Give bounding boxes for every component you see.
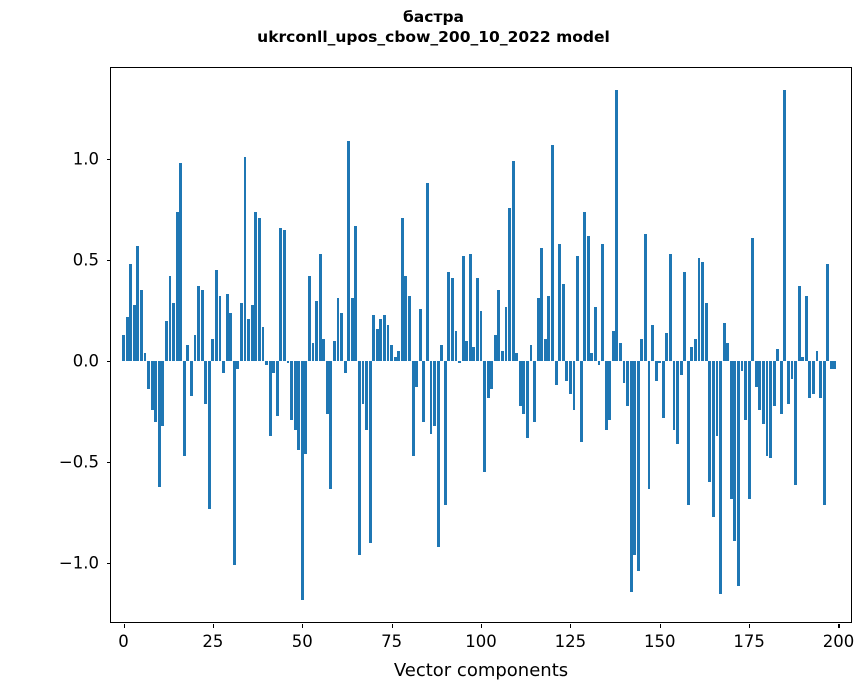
bar [701,262,704,361]
bar [304,361,307,454]
bar [744,361,747,420]
bar [308,276,311,361]
bar [129,264,132,361]
bar [519,361,522,405]
bar [741,361,744,371]
bar [365,361,368,430]
plot-axes: −1.0−0.50.00.51.00255075100125150175200 [110,67,852,623]
bar [662,361,665,418]
y-tick-label: −1.0 [39,554,99,573]
bar [601,244,604,361]
bar [415,361,418,387]
bar [766,361,769,456]
bar [372,315,375,362]
y-tick-mark [107,462,111,463]
bar [776,349,779,361]
bar [490,361,493,389]
bar [447,272,450,361]
bar [144,353,147,361]
bar [823,361,826,505]
y-tick-mark [107,361,111,362]
bar [623,361,626,383]
bar [390,345,393,361]
y-tick-mark [107,563,111,564]
bar [544,339,547,361]
bar [719,361,722,594]
bar [794,361,797,484]
bar [673,361,676,430]
chart-title-line-2: ukrconll_upos_cbow_200_10_2022 model [0,28,867,48]
bar [387,325,390,361]
bar [383,315,386,362]
chart-title-line-1: бастра [0,8,867,28]
bar [808,361,811,397]
bar [165,321,168,361]
bar [726,343,729,361]
bar [262,327,265,361]
bar [494,335,497,361]
bar [440,345,443,361]
bar [501,351,504,361]
bar [637,361,640,571]
bar [451,278,454,361]
bar [773,361,776,405]
bar [676,361,679,444]
x-tick-label: 175 [714,632,784,651]
bar [254,212,257,362]
bar [530,345,533,361]
bar [780,361,783,414]
bar [590,353,593,361]
bar [419,309,422,362]
bar [362,361,365,403]
bar [122,335,125,361]
bar [379,319,382,361]
bar [233,361,236,565]
x-tick-label: 75 [357,632,427,651]
bar [236,361,239,369]
bar [698,258,701,361]
y-tick-label: 0.0 [39,352,99,371]
bar [733,361,736,541]
bar [183,361,186,456]
chart-title: бастра ukrconll_upos_cbow_200_10_2022 mo… [0,8,867,48]
bar [705,303,708,362]
bar [758,361,761,410]
bar [297,361,300,450]
bar [426,183,429,361]
bar [605,361,608,430]
x-tick-mark [660,624,661,628]
bar [315,301,318,362]
bar [194,335,197,361]
bar [397,351,400,361]
bar [683,272,686,361]
bar [515,353,518,361]
x-tick-mark [838,624,839,628]
bar [401,218,404,362]
bar [283,230,286,361]
bar [658,361,661,363]
x-tick-label: 25 [178,632,248,651]
bar [551,145,554,361]
bar [812,361,815,393]
bar [258,218,261,362]
bar [633,361,636,555]
bar [465,341,468,361]
bar [369,361,372,543]
y-tick-label: 1.0 [39,149,99,168]
bar [229,313,232,362]
bar [712,361,715,517]
bar [197,286,200,361]
bar [755,361,758,387]
bar [497,290,500,361]
bar [312,343,315,361]
x-tick-label: 50 [267,632,337,651]
bar [487,361,490,397]
bar [319,254,322,361]
bar [723,323,726,361]
matplotlib-figure: бастра ukrconll_upos_cbow_200_10_2022 mo… [0,0,867,696]
bar [573,361,576,410]
bar [412,361,415,456]
bar [265,361,268,365]
bar [576,256,579,361]
bar [244,157,247,361]
bar [161,361,164,426]
bar [783,90,786,361]
bar [294,361,297,430]
bar [619,343,622,361]
bar [526,361,529,438]
bar [730,361,733,498]
bar [136,246,139,361]
bar [562,284,565,361]
bar [351,298,354,361]
bar [469,254,472,361]
x-tick-label: 0 [89,632,159,651]
bar [340,313,343,362]
bar [337,298,340,361]
bar [798,286,801,361]
bar [833,361,836,369]
bar [269,361,272,436]
bar [690,347,693,361]
bar [176,212,179,362]
bar [787,361,790,403]
bar [651,325,654,361]
bar [204,361,207,403]
bar [512,161,515,361]
x-tick-mark [213,624,214,628]
bar [172,303,175,362]
bar [169,276,172,361]
bar [612,331,615,361]
bar [748,361,751,498]
bar [219,296,222,361]
bar [301,361,304,600]
bar [344,361,347,373]
bar [569,361,572,393]
bar [648,361,651,488]
bar [422,361,425,422]
bar [455,331,458,361]
y-tick-mark [107,159,111,160]
bar [615,90,618,361]
bar [505,307,508,362]
bar [147,361,150,389]
bar [240,303,243,362]
bar [665,333,668,361]
bar [287,361,290,363]
x-tick-mark [749,624,750,628]
x-tick-mark [302,624,303,628]
x-tick-label: 100 [446,632,516,651]
bar [354,226,357,361]
bar [830,361,833,369]
bar [347,141,350,361]
bar [190,361,193,395]
bar [358,361,361,555]
y-tick-mark [107,260,111,261]
bar [555,361,558,385]
bar [133,305,136,362]
bar [540,248,543,361]
bar [290,361,293,420]
bar [279,228,282,361]
bar-series-container [111,68,851,622]
bar [751,238,754,361]
bar [201,290,204,361]
bar [215,270,218,361]
bar [805,296,808,361]
bar [251,305,254,362]
bar [687,361,690,505]
bar [626,361,629,405]
bar [476,278,479,361]
bar [458,361,461,363]
bar [333,341,336,361]
bar [126,317,129,361]
x-tick-mark [124,624,125,628]
bar [644,234,647,361]
bar [276,361,279,416]
bar [737,361,740,585]
bar [762,361,765,424]
x-tick-mark [392,624,393,628]
bar [565,361,568,381]
bar [791,361,794,379]
bar [655,361,658,381]
bar [547,296,550,361]
bar [508,208,511,362]
y-tick-label: −0.5 [39,453,99,472]
bar [819,361,822,397]
bar [158,361,161,486]
bar [154,361,157,422]
bar [272,361,275,373]
bar [694,339,697,361]
bar [533,361,536,422]
x-tick-label: 200 [803,632,867,651]
bar [587,236,590,361]
bar [329,361,332,488]
bar [583,212,586,362]
bar [444,361,447,505]
bar [816,351,819,361]
bar [537,298,540,361]
bar [211,339,214,361]
bar [151,361,154,410]
bar [326,361,329,414]
bar [558,244,561,361]
x-tick-mark [570,624,571,628]
bar [472,347,475,361]
bar [801,357,804,361]
bar [580,361,583,442]
bar [680,361,683,375]
bar [140,290,143,361]
bar [437,361,440,547]
bar [430,361,433,434]
bar [826,264,829,361]
bar [322,339,325,361]
bar [222,361,225,373]
bar [186,345,189,361]
bar [598,361,601,365]
bar [640,339,643,361]
bar [376,329,379,361]
bar [433,361,436,426]
x-tick-mark [481,624,482,628]
bar [404,276,407,361]
bar [608,361,611,420]
y-tick-label: 0.5 [39,251,99,270]
bar [480,311,483,362]
bar [630,361,633,591]
bar [462,256,465,361]
bar [483,361,486,472]
x-tick-label: 150 [625,632,695,651]
x-axis-label: Vector components [110,660,852,681]
bar [669,254,672,361]
bar [226,294,229,361]
bar [408,296,411,361]
x-tick-label: 125 [535,632,605,651]
bar [716,361,719,436]
bar [208,361,211,509]
bar [247,319,250,361]
bar [594,307,597,362]
bar [394,357,397,361]
bar [769,361,772,458]
bar [522,361,525,414]
bar [708,361,711,482]
bar [179,163,182,361]
